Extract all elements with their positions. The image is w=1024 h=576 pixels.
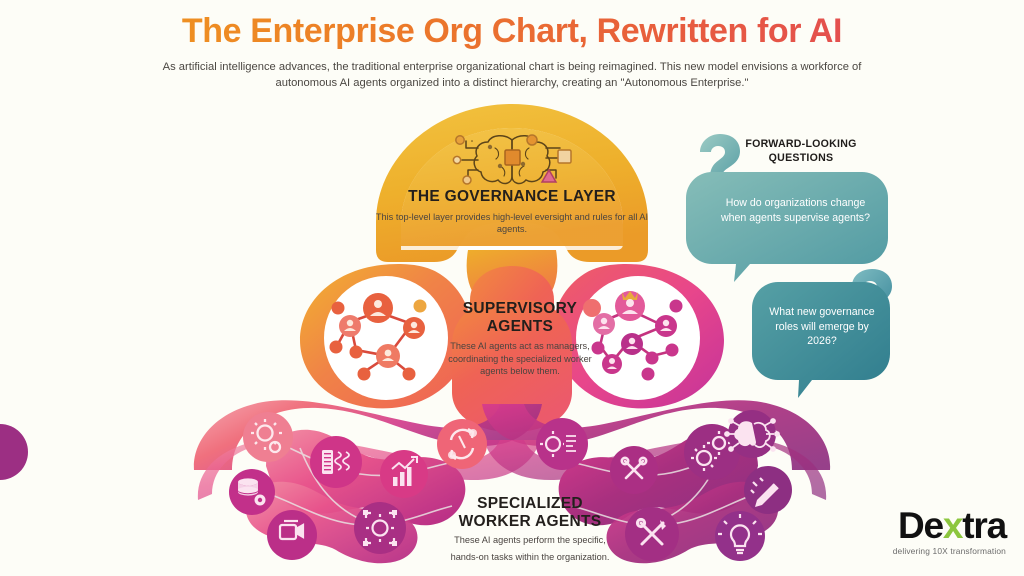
worker-heading-line1: SPECIALIZED [405,495,655,513]
worker-node[interactable] [536,418,588,470]
governance-layer-shape[interactable] [376,104,648,262]
governance-layer-text: THE GOVERNANCE LAYER This top-level laye… [372,188,652,235]
worker-node[interactable] [380,450,428,498]
question-1-text: How do organizations change when agents … [718,196,873,225]
logo-accent-x: x [943,505,962,546]
dextra-logo: Dextra delivering 10X transformation [893,507,1006,556]
supervisory-body: These AI agents act as managers, coordin… [445,340,595,377]
infographic-canvas: The Enterprise Org Chart, Rewritten for … [0,0,1024,576]
org-chart-diagram [0,0,1024,576]
worker-body-line1: These AI agents perform the specific, [405,534,655,546]
supervisory-agents-text: SUPERVISORY AGENTS These AI agents act a… [445,300,595,377]
question-bubble-1[interactable] [686,172,888,282]
worker-node[interactable] [354,502,406,554]
supervisory-heading-line2: AGENTS [445,318,595,336]
governance-heading: THE GOVERNANCE LAYER [372,188,652,206]
governance-body: This top-level layer provides high-level… [372,211,652,235]
worker-node[interactable] [229,469,275,515]
worker-body-line2: hands-on tasks within the organization. [405,551,655,563]
worker-node[interactable] [715,511,765,561]
supervisory-heading-line1: SUPERVISORY [445,300,595,318]
flq-title-line1: FORWARD-LOOKING [706,138,896,152]
worker-node[interactable] [243,412,293,462]
worker-node[interactable] [610,446,658,494]
worker-agents-text: SPECIALIZED WORKER AGENTS These AI agent… [405,495,655,563]
logo-wordmark: Dextra [893,507,1006,544]
worker-node[interactable] [744,466,792,514]
forward-looking-questions-title: FORWARD-LOOKING QUESTIONS [706,138,896,166]
flq-title-line2: QUESTIONS [706,152,896,166]
worker-heading-line2: WORKER AGENTS [405,513,655,531]
logo-text-part2: tra [962,505,1006,546]
logo-tagline: delivering 10X transformation [893,546,1006,556]
worker-node[interactable] [437,419,487,469]
worker-node[interactable] [310,436,362,488]
question-2-text: What new governance roles will emerge by… [762,305,882,349]
logo-text-part1: De [898,505,943,546]
worker-node[interactable] [267,510,317,560]
